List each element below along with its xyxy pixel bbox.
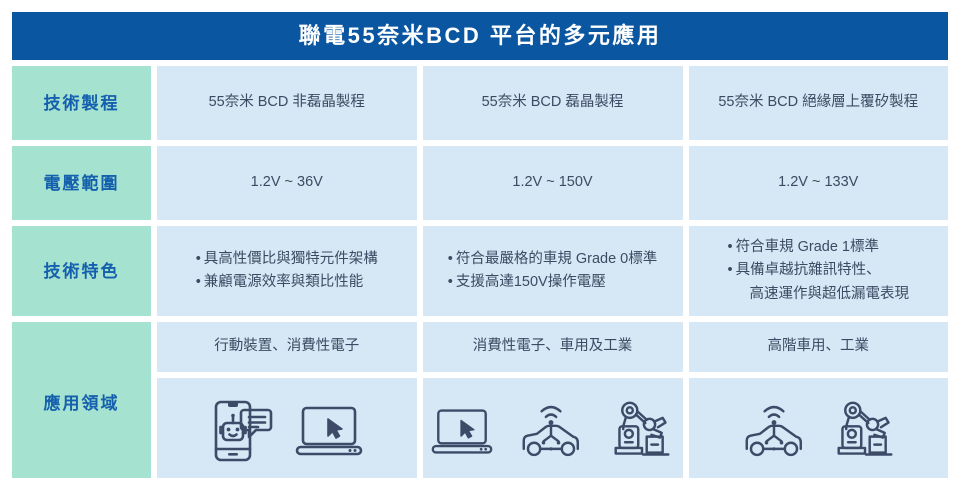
list-item: •具備卓越抗雜訊特性、高速運作與超低漏電表現 [728,259,910,306]
cell-icons-col1 [157,378,417,478]
row-label-text: 應用領域 [44,395,120,412]
bullet-marker-icon: • [448,251,453,267]
row-label-text: 電壓範圍 [44,175,120,192]
list-item: •支援高達150V操作電壓 [448,271,658,294]
cell-applications-col3: 高階車用、工業 [689,322,949,372]
cell-process-col3: 55奈米 BCD 絕緣層上覆矽製程 [689,66,949,140]
page-title: 聯電55奈米BCD 平台的多元應用 [299,25,662,47]
list-item: •兼顧電源效率與類比性能 [196,271,378,294]
robot-arm-icon [832,400,898,462]
row-label-text: 技術特色 [44,263,120,280]
robot-arm-icon [609,400,675,462]
cell-voltage-col3: 1.2V ~ 133V [689,146,949,220]
bullet-marker-icon: • [728,262,733,278]
cell-voltage-col2: 1.2V ~ 150V [423,146,683,220]
cell-features-col2: •符合最嚴格的車規 Grade 0標準 •支援高達150V操作電壓 [423,226,683,316]
cell-value: 1.2V ~ 36V [251,172,323,193]
bullet-marker-icon: • [196,251,201,267]
connected-car-icon [515,400,587,462]
cell-process-col1: 55奈米 BCD 非磊晶製程 [157,66,417,140]
infographic-table: 聯電55奈米BCD 平台的多元應用 技術製程 55奈米 BCD 非磊晶製程 55… [0,0,960,478]
bullet-text: 符合車規 Grade 1標準 [736,239,879,255]
cell-value: 行動裝置、消費性電子 [214,336,359,357]
list-item: •具高性價比與獨特元件架構 [196,248,378,271]
header-banner: 聯電55奈米BCD 平台的多元應用 [12,12,948,60]
cell-value: 高階車用、工業 [768,336,870,357]
bullet-marker-icon: • [196,274,201,290]
connected-car-icon [738,400,810,462]
cell-value: 1.2V ~ 150V [512,172,592,193]
row-label-text: 技術製程 [44,95,120,112]
cell-applications-col1: 行動裝置、消費性電子 [157,322,417,372]
bullet-text: 兼顧電源效率與類比性能 [204,274,364,290]
bullet-list: •符合車規 Grade 1標準 •具備卓越抗雜訊特性、高速運作與超低漏電表現 [728,236,910,306]
list-item: •符合車規 Grade 1標準 [728,236,910,259]
bullet-text-continued: 高速運作與超低漏電表現 [739,283,910,306]
cell-process-col2: 55奈米 BCD 磊晶製程 [423,66,683,140]
cell-applications-col2: 消費性電子、車用及工業 [423,322,683,372]
list-item: •符合最嚴格的車規 Grade 0標準 [448,248,658,271]
row-label-voltage: 電壓範圍 [12,146,151,220]
cell-voltage-col1: 1.2V ~ 36V [157,146,417,220]
bullet-text: 符合最嚴格的車規 Grade 0標準 [456,251,657,267]
cell-value: 55奈米 BCD 磊晶製程 [482,92,624,113]
bullet-list: •符合最嚴格的車規 Grade 0標準 •支援高達150V操作電壓 [448,248,658,295]
bullet-marker-icon: • [448,274,453,290]
bullet-text: 具備卓越抗雜訊特性、 [736,262,881,278]
row-label-features: 技術特色 [12,226,151,316]
bullet-list: •具高性價比與獨特元件架構 •兼顧電源效率與類比性能 [196,248,378,295]
cell-icons-col3 [689,378,949,478]
cell-features-col3: •符合車規 Grade 1標準 •具備卓越抗雜訊特性、高速運作與超低漏電表現 [689,226,949,316]
laptop-cursor-icon [431,404,493,459]
cell-features-col1: •具高性價比與獨特元件架構 •兼顧電源效率與類比性能 [157,226,417,316]
row-label-process: 技術製程 [12,66,151,140]
cell-icons-col2 [423,378,683,478]
bullet-marker-icon: • [728,239,733,255]
smartphone-chatbot-icon [211,396,273,466]
bullet-text: 具高性價比與獨特元件架構 [204,251,378,267]
cell-value: 55奈米 BCD 非磊晶製程 [209,92,365,113]
cell-value: 55奈米 BCD 絕緣層上覆矽製程 [718,92,918,113]
cell-value: 消費性電子、車用及工業 [473,336,633,357]
spec-table-grid: 技術製程 55奈米 BCD 非磊晶製程 55奈米 BCD 磊晶製程 55奈米 B… [12,66,948,466]
cell-value: 1.2V ~ 133V [778,172,858,193]
bullet-text: 支援高達150V操作電壓 [456,274,606,290]
row-label-applications: 應用領域 [12,322,151,478]
laptop-cursor-icon [295,402,363,460]
